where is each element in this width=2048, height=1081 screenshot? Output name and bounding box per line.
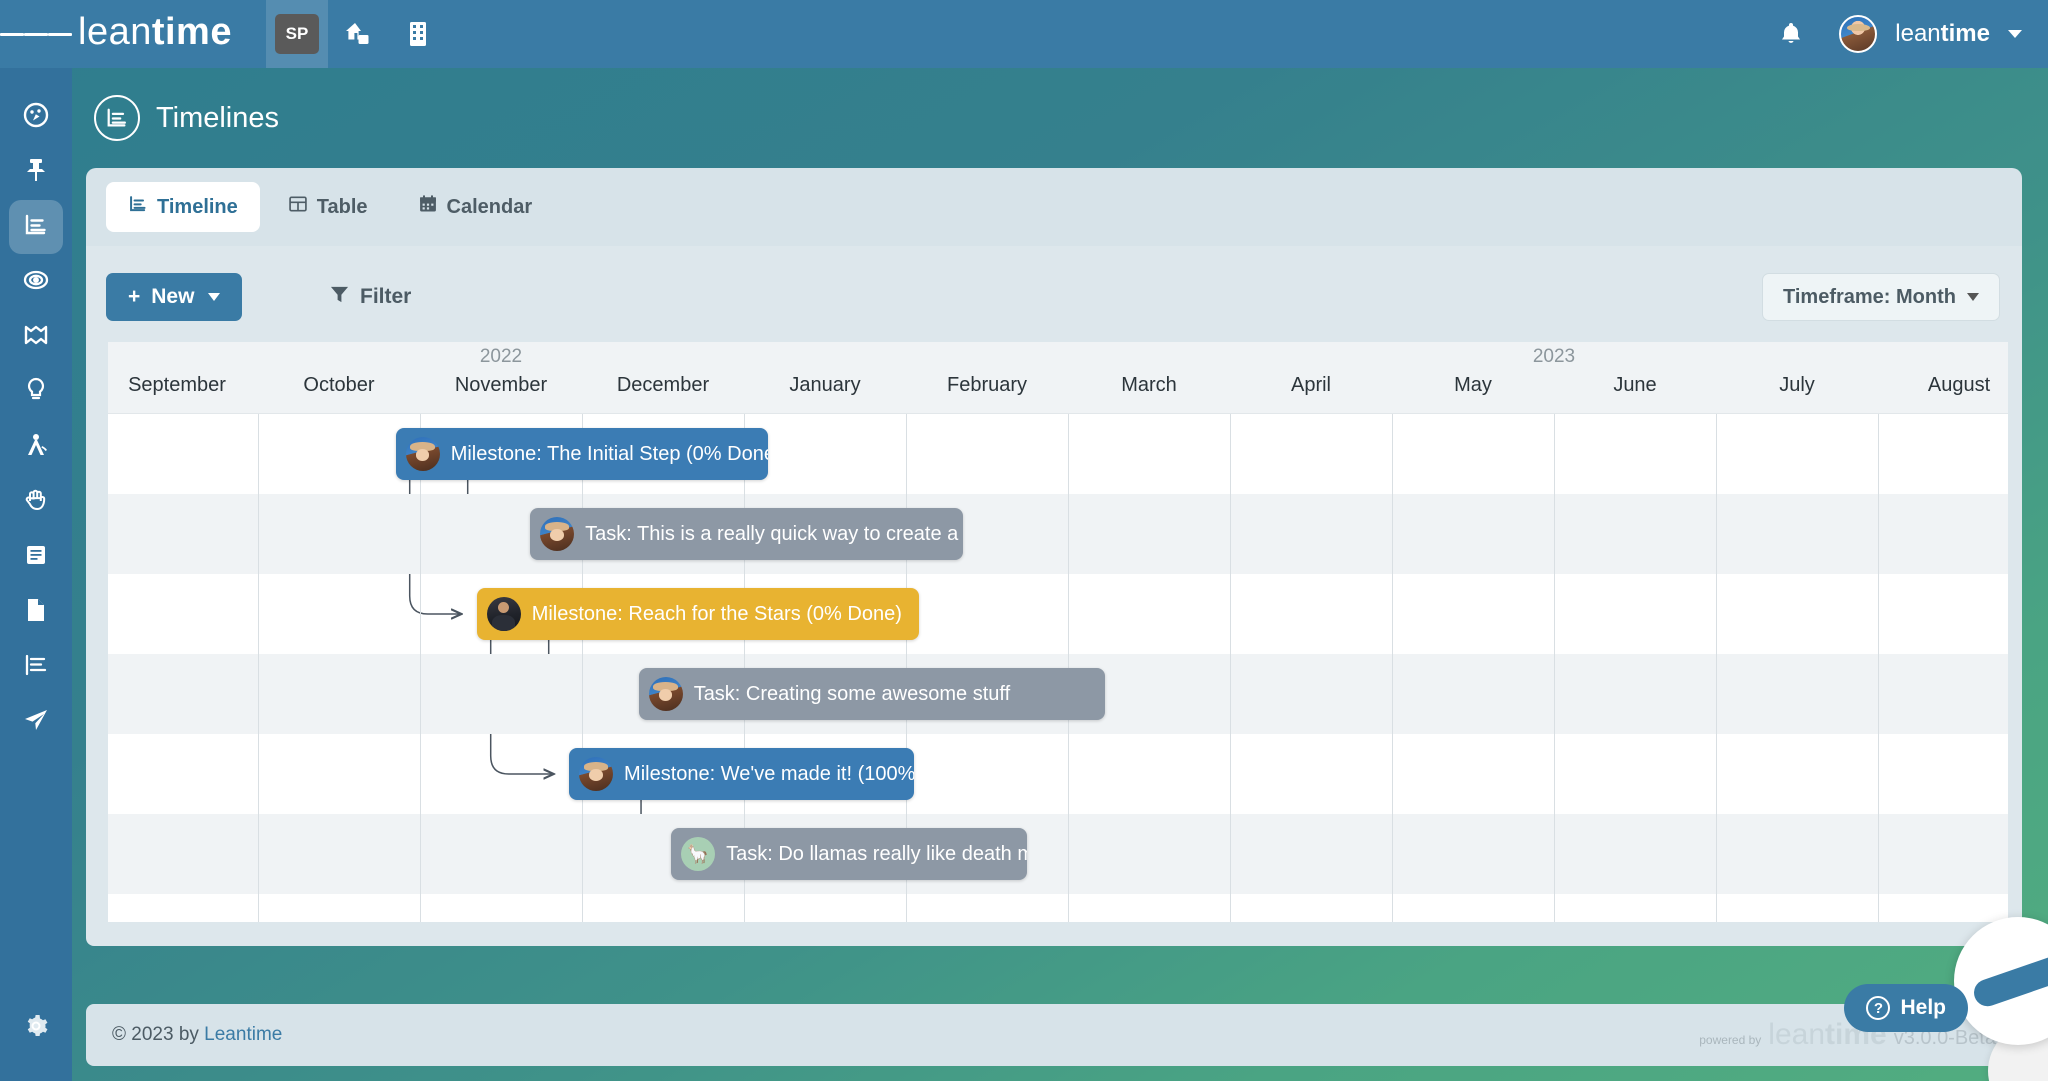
sidebar-item-pinned[interactable] bbox=[9, 145, 63, 199]
sidebar-item-send[interactable] bbox=[9, 695, 63, 749]
target-icon bbox=[23, 267, 49, 298]
gantt-toolbar: + New Filter Timeframe: Month bbox=[86, 246, 2022, 342]
gantt-body[interactable]: Milestone: The Initial Step (0% Done)Tas… bbox=[108, 414, 2008, 922]
gantt-grid-line bbox=[582, 414, 583, 922]
tab-table-label: Table bbox=[317, 196, 368, 219]
sidebar-item-research[interactable] bbox=[9, 420, 63, 474]
view-tabs-card: Timeline Table Calendar bbox=[86, 168, 2022, 246]
gantt-bar[interactable]: Task: This is a really quick way to crea… bbox=[530, 508, 963, 560]
sidebar-item-settings[interactable] bbox=[9, 1001, 63, 1055]
user-avatar[interactable] bbox=[1839, 15, 1877, 53]
gantt-bar-label: Task: Do llamas really like death metal? bbox=[726, 843, 1027, 866]
app-logo[interactable]: leantime bbox=[72, 11, 266, 54]
help-button[interactable]: ? Help bbox=[1844, 984, 1968, 1032]
powered-logo-light: lean bbox=[1768, 1018, 1825, 1051]
filter-button-label: Filter bbox=[360, 285, 411, 309]
timeframe-selector[interactable]: Timeframe: Month bbox=[1762, 273, 2000, 321]
tab-calendar-label: Calendar bbox=[447, 196, 533, 219]
gantt-row bbox=[108, 414, 2008, 494]
gantt-month-label: December bbox=[582, 374, 744, 397]
funnel-icon bbox=[330, 285, 349, 310]
lightbulb-icon bbox=[25, 377, 47, 408]
pin-icon bbox=[24, 157, 48, 188]
question-circle-icon: ? bbox=[1866, 996, 1890, 1020]
home-switch-icon[interactable] bbox=[328, 22, 388, 46]
hamburger-menu-icon[interactable] bbox=[0, 29, 72, 39]
powered-by-label: powered by bbox=[1699, 1033, 1761, 1047]
tab-table[interactable]: Table bbox=[266, 182, 390, 232]
sidebar-item-wiki[interactable] bbox=[9, 530, 63, 584]
sidebar-item-documents[interactable] bbox=[9, 585, 63, 639]
tab-calendar[interactable]: Calendar bbox=[396, 182, 555, 232]
assignee-avatar bbox=[579, 757, 613, 791]
chevron-down-icon bbox=[1967, 293, 1979, 301]
timeline-icon bbox=[128, 194, 148, 220]
gantt-grid-line bbox=[1392, 414, 1393, 922]
file-icon bbox=[25, 597, 47, 628]
view-tabs: Timeline Table Calendar bbox=[86, 168, 2022, 246]
gantt-row bbox=[108, 574, 2008, 654]
gantt-year-row: 20222023 bbox=[108, 342, 2008, 372]
sidebar-item-dashboard[interactable] bbox=[9, 90, 63, 144]
gear-icon bbox=[23, 1013, 49, 1044]
gantt-month-label: September bbox=[108, 374, 258, 397]
gantt-row bbox=[108, 814, 2008, 894]
gantt-grid-line bbox=[1878, 414, 1879, 922]
tab-timeline-label: Timeline bbox=[157, 196, 238, 219]
new-button-label: New bbox=[151, 285, 194, 309]
calendar-icon bbox=[418, 194, 438, 220]
gantt-bar-label: Milestone: Reach for the Stars (0% Done) bbox=[532, 603, 902, 626]
timeframe-label: Timeframe: Month bbox=[1783, 286, 1956, 309]
gauge-icon bbox=[23, 102, 49, 133]
gantt-year-label: 2022 bbox=[108, 346, 906, 368]
gantt-bar-label: Milestone: We've made it! (100% Done) bbox=[624, 763, 914, 786]
chevron-down-icon bbox=[208, 293, 220, 301]
gantt-bar-label: Task: This is a really quick way to crea… bbox=[585, 523, 963, 546]
gantt-month-label: February bbox=[906, 374, 1068, 397]
help-button-label: Help bbox=[1900, 996, 1946, 1020]
user-name-bold: time bbox=[1941, 20, 1990, 47]
book-icon bbox=[24, 543, 48, 572]
gantt-bar[interactable]: Task: Creating some awesome stuff bbox=[639, 668, 1106, 720]
page-header: Timelines bbox=[72, 68, 2048, 168]
table-icon bbox=[288, 194, 308, 220]
gantt-grid-line bbox=[1554, 414, 1555, 922]
gantt-grid-line bbox=[258, 414, 259, 922]
gantt-month-label: November bbox=[420, 374, 582, 397]
compass-icon bbox=[23, 432, 49, 463]
building-icon[interactable] bbox=[388, 21, 448, 47]
bell-icon[interactable] bbox=[1761, 21, 1821, 47]
gantt-month-label: April bbox=[1230, 374, 1392, 397]
footer: © 2023 by Leantime powered by leantime v… bbox=[86, 1004, 2022, 1066]
tab-timeline[interactable]: Timeline bbox=[106, 182, 260, 232]
assignee-avatar bbox=[406, 437, 440, 471]
gantt-month-label: June bbox=[1554, 374, 1716, 397]
copyright: © 2023 by Leantime bbox=[112, 1024, 282, 1046]
sidebar-item-goals[interactable] bbox=[9, 255, 63, 309]
app-logo-bold: time bbox=[152, 11, 232, 53]
gantt-chart[interactable]: 20222023 SeptemberOctoberNovemberDecembe… bbox=[108, 342, 2008, 922]
user-name[interactable]: leantime bbox=[1895, 20, 1990, 48]
hand-icon bbox=[23, 487, 49, 518]
gantt-grid-line bbox=[420, 414, 421, 922]
user-name-light: lean bbox=[1895, 20, 1940, 47]
timeline-icon bbox=[23, 212, 49, 243]
gantt-month-label: January bbox=[744, 374, 906, 397]
sidebar-navigation bbox=[0, 68, 72, 1081]
leantime-link[interactable]: Leantime bbox=[204, 1024, 282, 1045]
top-navigation-bar: leantime SP leantime bbox=[0, 0, 2048, 68]
sidebar-item-timelines[interactable] bbox=[9, 200, 63, 254]
gantt-bar[interactable]: Milestone: We've made it! (100% Done) bbox=[569, 748, 914, 800]
gantt-month-label: March bbox=[1068, 374, 1230, 397]
gantt-month-label: August bbox=[1878, 374, 2008, 397]
gantt-bar[interactable]: 🦙Task: Do llamas really like death metal… bbox=[671, 828, 1027, 880]
paper-plane-icon bbox=[23, 708, 49, 737]
page-title: Timelines bbox=[156, 102, 279, 135]
app-logo-light: lean bbox=[78, 11, 152, 53]
gantt-month-label: May bbox=[1392, 374, 1554, 397]
new-button[interactable]: + New bbox=[106, 273, 242, 321]
plus-icon: + bbox=[128, 285, 140, 309]
copyright-text: © 2023 by bbox=[112, 1024, 204, 1045]
assignee-avatar bbox=[540, 517, 574, 551]
gantt-row bbox=[108, 734, 2008, 814]
timeline-panel: + New Filter Timeframe: Month 20222023 S… bbox=[86, 246, 2022, 946]
gantt-month-row: SeptemberOctoberNovemberDecemberJanuaryF… bbox=[108, 372, 2008, 414]
project-chip[interactable]: SP bbox=[266, 0, 328, 68]
assignee-avatar: 🦙 bbox=[681, 837, 715, 871]
gantt-bar-label: Milestone: The Initial Step (0% Done) bbox=[451, 443, 769, 466]
sidebar-item-ideas[interactable] bbox=[9, 365, 63, 419]
gantt-grid-line bbox=[1716, 414, 1717, 922]
chevron-down-icon[interactable] bbox=[2008, 30, 2022, 38]
gantt-bar[interactable]: Milestone: The Initial Step (0% Done) bbox=[396, 428, 769, 480]
gantt-bar-label: Task: Creating some awesome stuff bbox=[694, 683, 1010, 706]
assignee-avatar bbox=[649, 677, 683, 711]
report-icon bbox=[23, 653, 49, 682]
gantt-month-label: July bbox=[1716, 374, 1878, 397]
gantt-header: 20222023 SeptemberOctoberNovemberDecembe… bbox=[108, 342, 2008, 414]
filter-button[interactable]: Filter bbox=[330, 273, 411, 321]
gantt-bar[interactable]: Milestone: Reach for the Stars (0% Done) bbox=[477, 588, 919, 640]
sidebar-item-retrospectives[interactable] bbox=[9, 475, 63, 529]
assignee-avatar bbox=[487, 597, 521, 631]
sidebar-item-reports[interactable] bbox=[9, 640, 63, 694]
board-icon bbox=[23, 323, 49, 352]
gantt-row bbox=[108, 494, 2008, 574]
project-chip-label: SP bbox=[275, 14, 319, 54]
sidebar-item-kanban[interactable] bbox=[9, 310, 63, 364]
gantt-grid-line bbox=[1230, 414, 1231, 922]
gantt-month-label: October bbox=[258, 374, 420, 397]
timeline-icon bbox=[94, 95, 140, 141]
gantt-year-label: 2023 bbox=[906, 346, 2008, 368]
